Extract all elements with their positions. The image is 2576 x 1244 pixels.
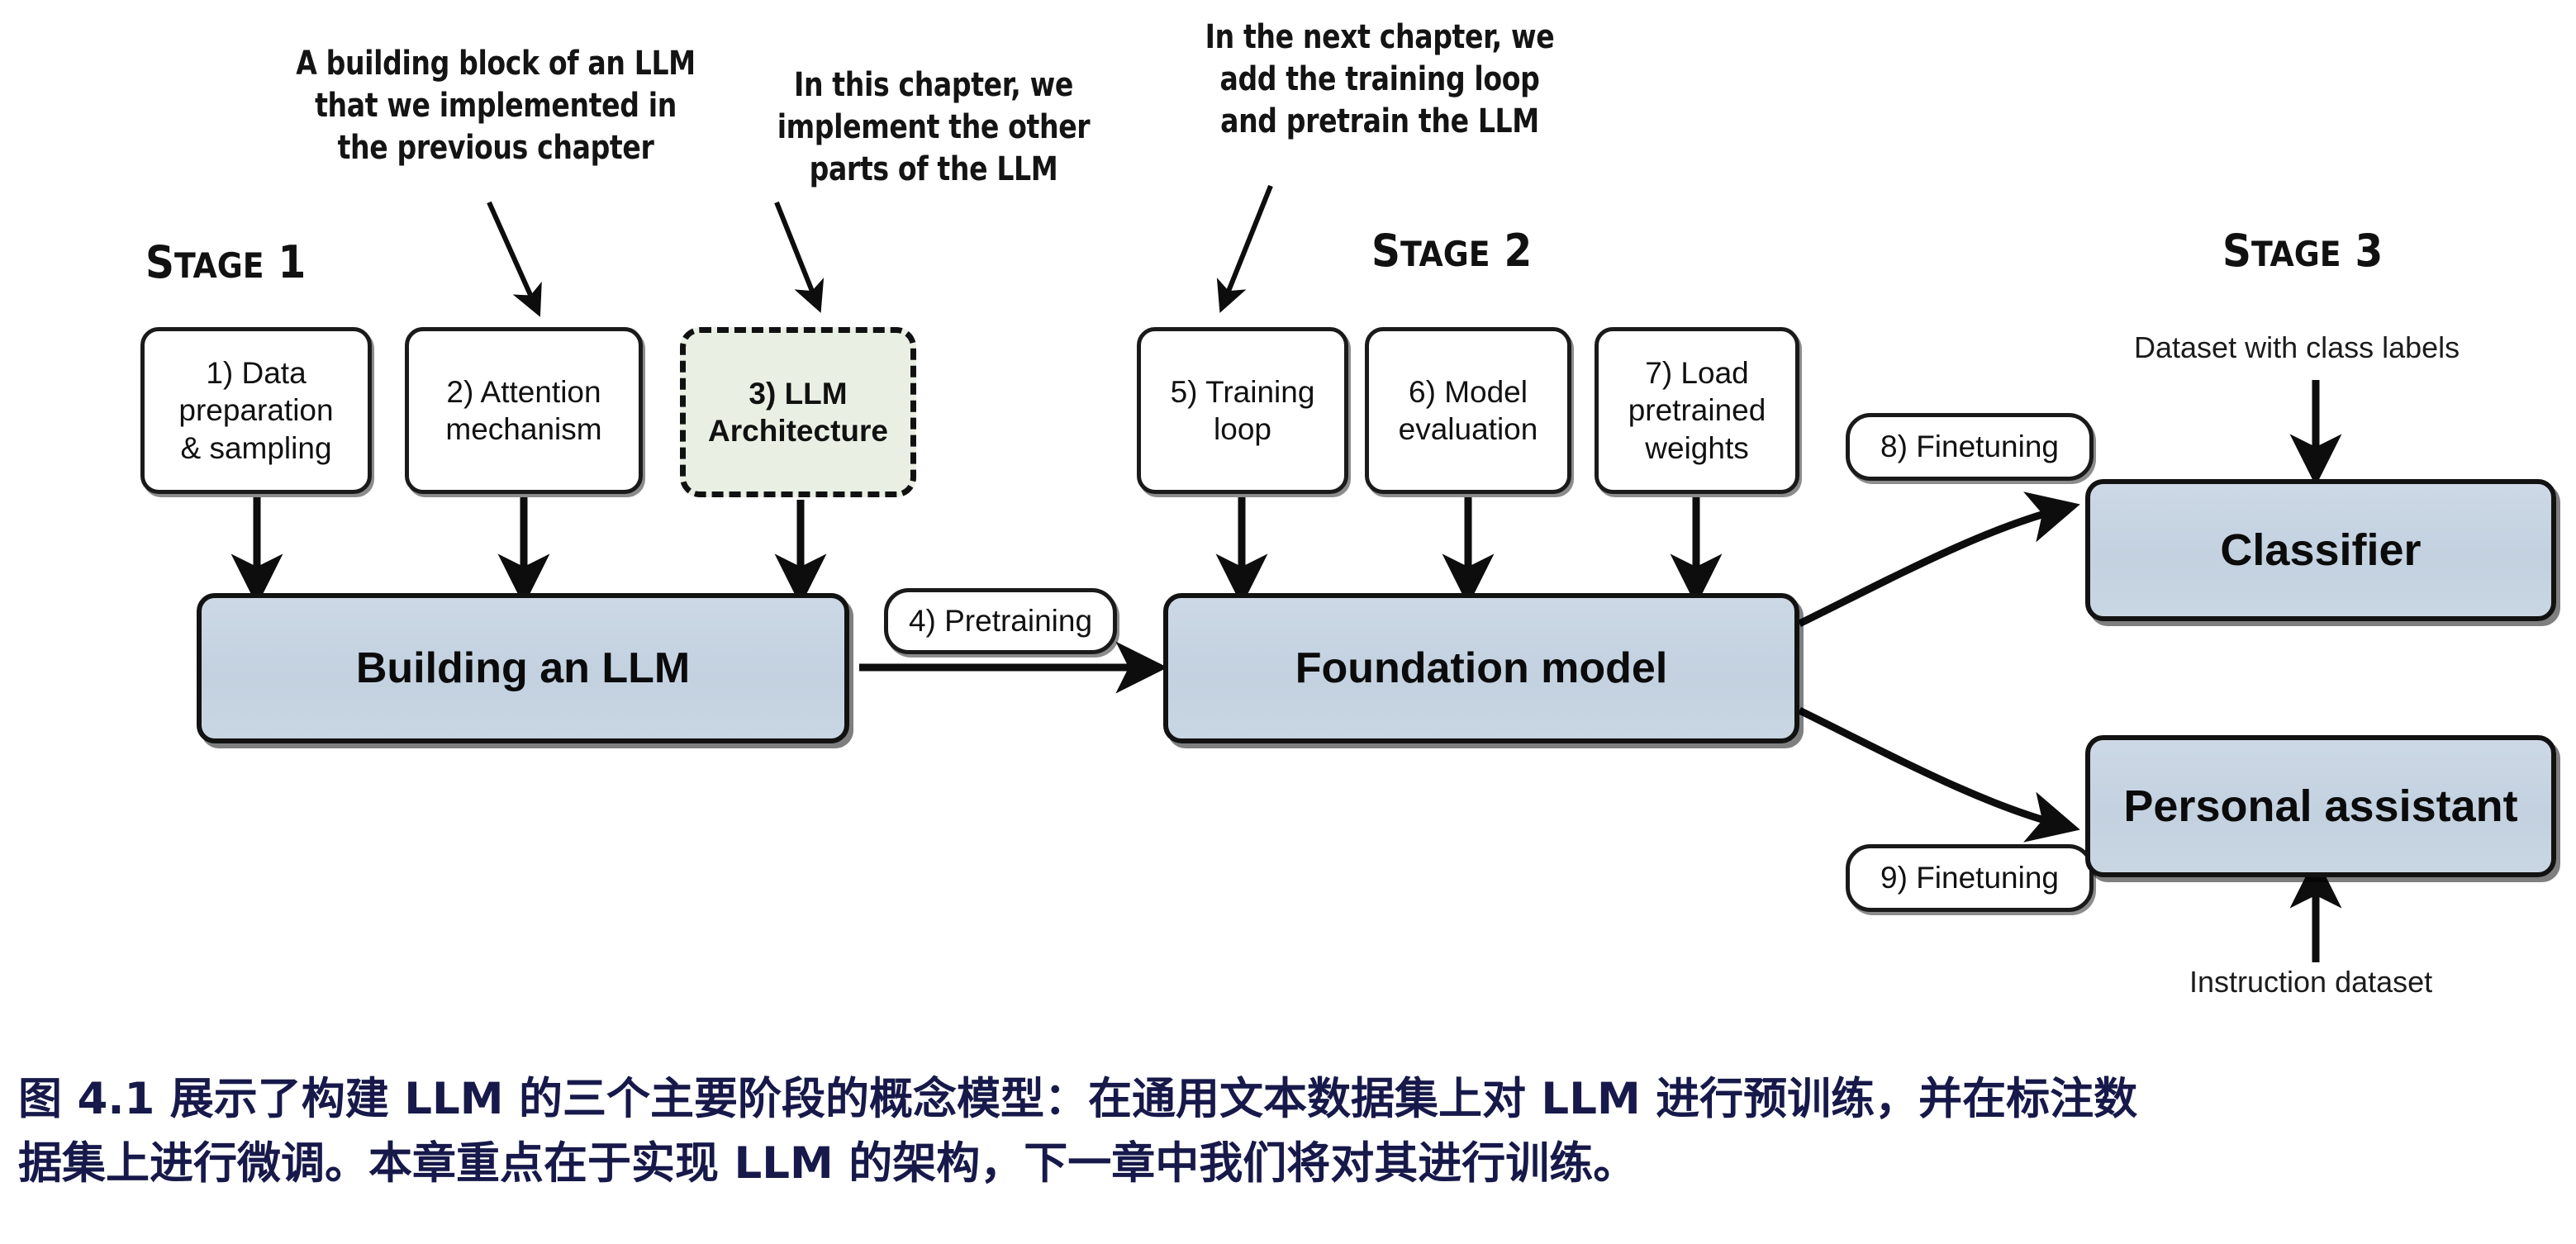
- pill-pretraining[interactable]: 4) Pretraining: [884, 588, 1117, 654]
- node-training-loop-line-2: loop: [1214, 411, 1271, 448]
- arrow-callout-to-architecture: [777, 202, 818, 306]
- arrow-callout-to-attention: [489, 202, 537, 310]
- node-load-pretrained-weights-line-3: weights: [1645, 430, 1748, 467]
- callout-this-chapter: In this chapter, we implement the other …: [774, 64, 1093, 192]
- node-load-pretrained-weights[interactable]: 7) Load pretrained weights: [1595, 327, 1799, 494]
- node-model-evaluation-line-2: evaluation: [1399, 411, 1538, 448]
- box-personal-assistant[interactable]: Personal assistant: [2085, 735, 2556, 877]
- stage-2-initial: S: [1371, 225, 1400, 277]
- stage-3-initial: S: [2222, 225, 2251, 277]
- node-attention-mechanism-line-1: 2) Attention: [446, 373, 601, 411]
- callout-previous-chapter-line-1: A building block of an LLM: [283, 43, 708, 85]
- node-training-loop-line-1: 5) Training: [1171, 373, 1315, 411]
- node-llm-architecture-line-2: Architecture: [708, 412, 888, 449]
- node-llm-architecture[interactable]: 3) LLM Architecture: [680, 327, 916, 497]
- callout-this-chapter-line-1: In this chapter, we: [774, 64, 1093, 107]
- node-data-preparation[interactable]: 1) Data preparation & sampling: [140, 327, 372, 494]
- stage-1-initial: S: [145, 236, 174, 288]
- callout-this-chapter-line-2: implement the other: [774, 107, 1093, 149]
- node-load-pretrained-weights-line-1: 7) Load: [1645, 354, 1749, 392]
- node-llm-architecture-line-1: 3) LLM: [749, 375, 847, 412]
- label-dataset-class: Dataset with class labels: [2134, 330, 2460, 365]
- callout-next-chapter-line-1: In the next chapter, we: [1197, 17, 1562, 59]
- figure-caption-line-1: 图 4.1 展示了构建 LLM 的三个主要阶段的概念模型：在通用文本数据集上对 …: [18, 1067, 2563, 1132]
- node-data-preparation-line-3: & sampling: [180, 430, 331, 467]
- node-attention-mechanism[interactable]: 2) Attention mechanism: [405, 327, 643, 494]
- node-attention-mechanism-line-2: mechanism: [445, 411, 601, 448]
- label-instruction-dataset: Instruction dataset: [2189, 965, 2432, 999]
- box-classifier[interactable]: Classifier: [2085, 479, 2556, 621]
- figure-caption: 图 4.1 展示了构建 LLM 的三个主要阶段的概念模型：在通用文本数据集上对 …: [18, 1067, 2563, 1197]
- arrow-foundation-to-assistant: [1799, 710, 2065, 826]
- callout-previous-chapter: A building block of an LLM that we imple…: [283, 43, 708, 170]
- box-foundation-model[interactable]: Foundation model: [1163, 593, 1799, 743]
- node-model-evaluation-line-1: 6) Model: [1409, 373, 1528, 411]
- stage-2-rest: TAGE: [1400, 234, 1490, 274]
- pill-finetuning-assistant[interactable]: 9) Finetuning: [1846, 844, 2094, 912]
- node-data-preparation-line-1: 1) Data: [206, 354, 306, 392]
- arrow-callout-to-training-loop: [1223, 186, 1271, 306]
- callout-previous-chapter-line-2: that we implemented in: [283, 85, 708, 127]
- stage-3-heading: STAGE 3: [2222, 225, 2383, 277]
- stage-3-number: 3: [2341, 225, 2384, 277]
- stage-2-number: 2: [1490, 225, 1533, 277]
- arrow-foundation-to-classifier: [1799, 508, 2065, 624]
- callout-next-chapter-line-2: add the training loop: [1197, 59, 1562, 101]
- figure-canvas: A building block of an LLM that we imple…: [0, 0, 2576, 1041]
- node-load-pretrained-weights-line-2: pretrained: [1628, 392, 1766, 429]
- callout-this-chapter-line-3: parts of the LLM: [774, 149, 1093, 191]
- callout-previous-chapter-line-3: the previous chapter: [283, 127, 708, 169]
- callout-next-chapter-line-3: and pretrain the LLM: [1197, 101, 1562, 143]
- callout-next-chapter: In the next chapter, we add the training…: [1197, 17, 1562, 144]
- node-model-evaluation[interactable]: 6) Model evaluation: [1365, 327, 1571, 494]
- pill-finetuning-classifier[interactable]: 8) Finetuning: [1846, 413, 2094, 481]
- stage-1-number: 1: [264, 236, 307, 288]
- node-data-preparation-line-2: preparation: [178, 392, 333, 429]
- box-building-an-llm[interactable]: Building an LLM: [197, 593, 849, 743]
- figure-caption-line-2: 据集上进行微调。本章重点在于实现 LLM 的架构，下一章中我们将对其进行训练。: [18, 1132, 2563, 1196]
- stage-2-heading: STAGE 2: [1371, 225, 1532, 277]
- stage-1-heading: STAGE 1: [145, 236, 306, 288]
- node-training-loop[interactable]: 5) Training loop: [1137, 327, 1348, 494]
- stage-1-rest: TAGE: [174, 245, 264, 286]
- stage-3-rest: TAGE: [2251, 234, 2341, 274]
